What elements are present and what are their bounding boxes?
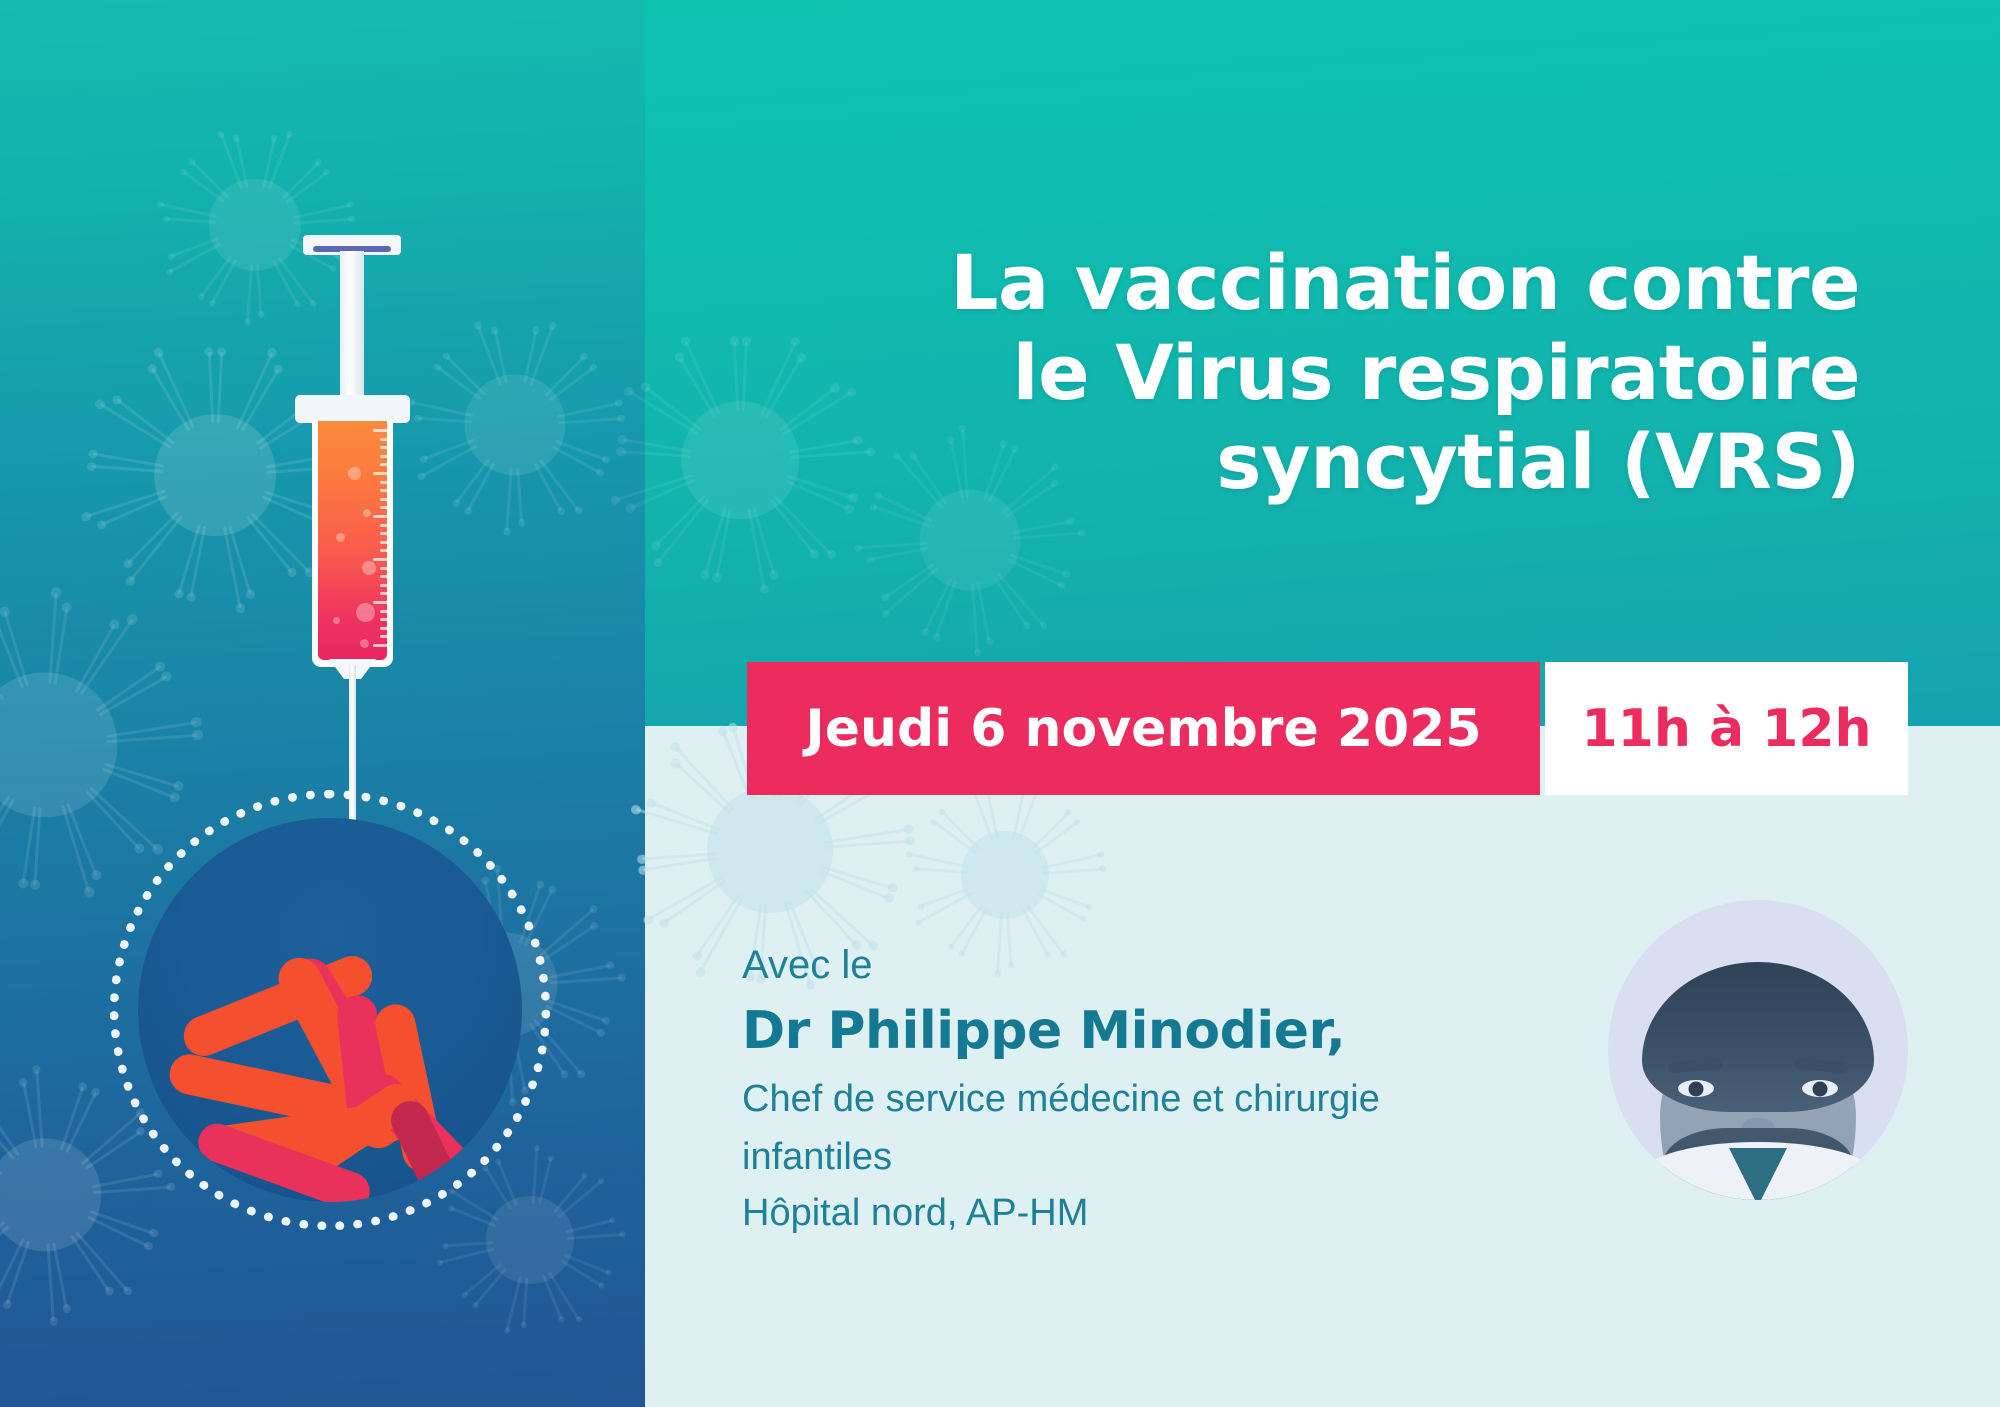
avatar-collar xyxy=(1643,1142,1873,1200)
title-line-3: syncytial (VRS) xyxy=(700,417,1860,507)
speaker-avatar xyxy=(1608,900,1908,1200)
syringe-barrel xyxy=(312,421,393,667)
speaker-role-line-1: Chef de service médecine et chirurgie xyxy=(742,1074,1562,1124)
syringe-icon xyxy=(295,235,410,705)
speaker-intro: Avec le xyxy=(742,940,1562,991)
event-time-badge: 11h à 12h xyxy=(1545,662,1908,795)
petri-dish-body xyxy=(138,818,522,1202)
page-title: La vaccination contre le Virus respirato… xyxy=(700,238,1860,507)
speaker-name: Dr Philippe Minodier, xyxy=(742,997,1562,1066)
speaker-block: Avec le Dr Philippe Minodier, Chef de se… xyxy=(742,940,1562,1238)
title-line-1: La vaccination contre xyxy=(700,238,1860,328)
avatar-eye-left xyxy=(1678,1080,1714,1097)
event-time-label: 11h à 12h xyxy=(1581,699,1871,759)
syringe-scale-ticks xyxy=(373,429,389,651)
petri-dish-icon xyxy=(110,790,550,1230)
syringe-plunger-rod xyxy=(340,251,364,399)
syringe-flange xyxy=(295,395,410,423)
avatar-eye-right xyxy=(1802,1080,1838,1097)
title-line-2: le Virus respiratoire xyxy=(700,328,1860,418)
event-date-label: Jeudi 6 novembre 2025 xyxy=(805,699,1481,759)
speaker-role-line-2: infantiles xyxy=(742,1132,1562,1182)
avatar-hair xyxy=(1642,962,1874,1112)
webinar-poster: La vaccination contre le Virus respirato… xyxy=(0,0,2000,1407)
speaker-affiliation: Hôpital nord, AP-HM xyxy=(742,1188,1562,1238)
event-date-badge: Jeudi 6 novembre 2025 xyxy=(747,662,1540,795)
